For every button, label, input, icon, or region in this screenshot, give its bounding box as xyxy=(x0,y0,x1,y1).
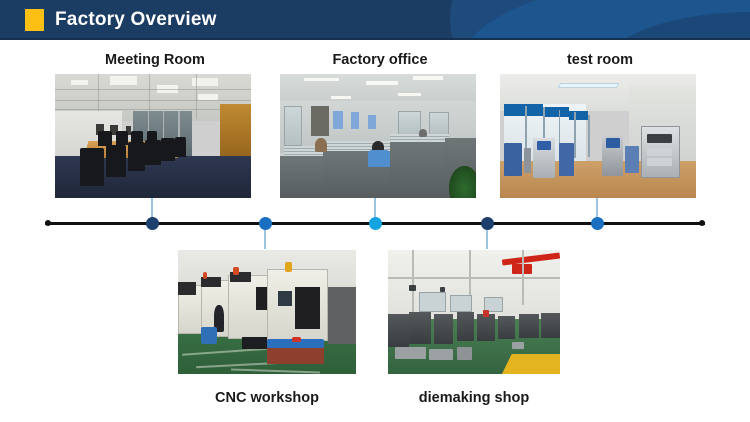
photo-factory-office xyxy=(280,74,476,198)
timeline-node-meeting-room[interactable] xyxy=(146,217,159,230)
header-bottom-rule xyxy=(0,38,750,40)
caption-diemaking-shop: diemaking shop xyxy=(374,390,574,406)
timeline-node-factory-office[interactable] xyxy=(259,217,272,230)
caption-cnc-workshop: CNC workshop xyxy=(167,390,367,406)
page-title: Factory Overview xyxy=(55,8,217,32)
caption-meeting-room: Meeting Room xyxy=(55,52,255,68)
page-header: Factory Overview xyxy=(0,0,750,40)
photo-test-room xyxy=(500,74,696,198)
caption-factory-office: Factory office xyxy=(280,52,480,68)
caption-test-room: test room xyxy=(500,52,700,68)
timeline-node-test-room[interactable] xyxy=(369,217,382,230)
timeline-node-diemaking-shop[interactable] xyxy=(591,217,604,230)
timeline-endcap-left xyxy=(45,220,51,226)
photo-cnc-workshop xyxy=(178,250,356,374)
yellow-square-icon xyxy=(25,9,44,31)
timeline-endcap-right xyxy=(699,220,705,226)
photo-diemaking-shop xyxy=(388,250,560,374)
timeline-node-cnc-workshop[interactable] xyxy=(481,217,494,230)
photo-meeting-room xyxy=(55,74,251,198)
